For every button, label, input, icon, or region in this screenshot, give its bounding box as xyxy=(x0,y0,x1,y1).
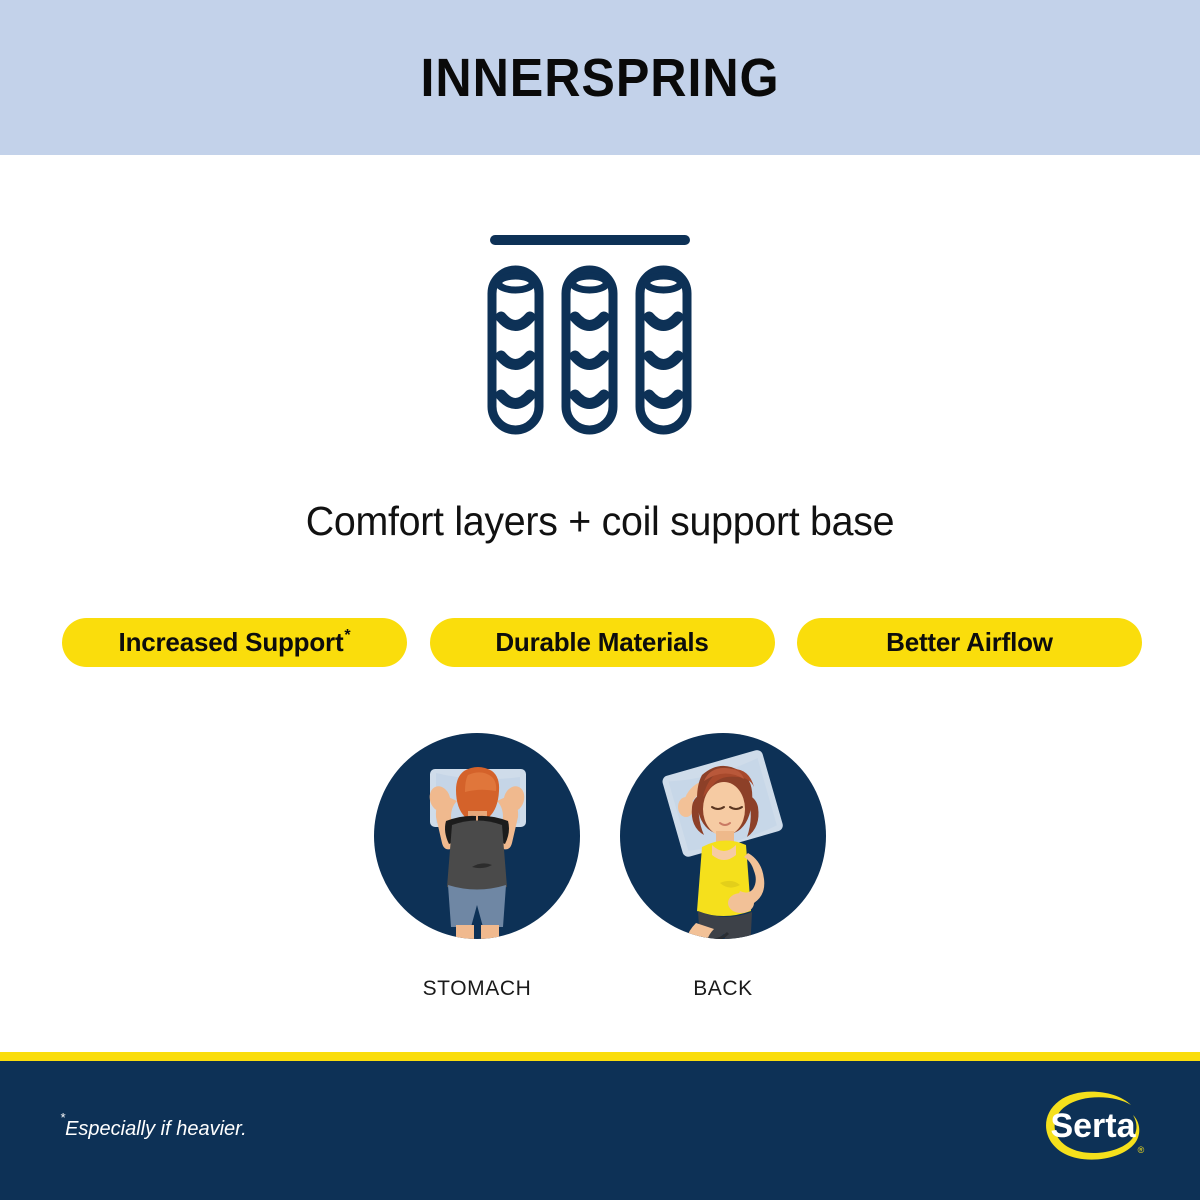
footer-accent-stripe xyxy=(0,1052,1200,1061)
sleep-position-label: STOMACH xyxy=(423,977,532,1001)
back-sleeper-circle xyxy=(620,733,826,939)
coil-cylinder-1 xyxy=(492,270,539,430)
serta-logo-mark: Serta ® xyxy=(1035,1085,1155,1167)
stomach-sleeper-circle xyxy=(374,733,580,939)
subtitle: Comfort layers + coil support base xyxy=(24,498,1176,545)
serta-wordmark: Serta xyxy=(1050,1107,1136,1145)
header-banner: INNERSPRING xyxy=(0,0,1200,155)
feature-pill-label: Better Airflow xyxy=(886,627,1053,658)
sleep-position-list: STOMACH xyxy=(0,733,1200,1001)
infographic-page: INNERSPRING xyxy=(0,0,1200,1200)
feature-pill-label: Durable Materials xyxy=(495,627,708,658)
feature-pill-increased-support[interactable]: Increased Support* xyxy=(62,618,407,667)
feature-pill-durable-materials[interactable]: Durable Materials xyxy=(430,618,775,667)
pocketed-coils-icon xyxy=(480,225,720,440)
sleep-position-back[interactable]: BACK xyxy=(620,733,826,1001)
page-title: INNERSPRING xyxy=(420,47,779,109)
footnote-marker: * xyxy=(60,1110,65,1125)
coil-top-bar xyxy=(490,235,690,245)
serta-logo[interactable]: Serta ® xyxy=(1035,1085,1155,1167)
registered-trademark-icon: ® xyxy=(1138,1145,1145,1155)
feature-pill-label: Increased Support xyxy=(119,627,344,658)
sleep-position-stomach[interactable]: STOMACH xyxy=(374,733,580,1001)
back-sleeper-illustration xyxy=(620,733,826,939)
coil-icon-container xyxy=(0,225,1200,440)
feature-pill-better-airflow[interactable]: Better Airflow xyxy=(797,618,1142,667)
stomach-sleeper-illustration xyxy=(374,733,580,939)
footnote-text: Especially if heavier. xyxy=(65,1118,247,1140)
coil-cylinder-3 xyxy=(640,270,687,430)
coil-cylinder-2 xyxy=(566,270,613,430)
feature-pill-list: Increased Support* Durable Materials Bet… xyxy=(62,618,1142,667)
footnote: *Especially if heavier. xyxy=(60,1118,247,1141)
sleep-position-label: BACK xyxy=(693,977,753,1001)
